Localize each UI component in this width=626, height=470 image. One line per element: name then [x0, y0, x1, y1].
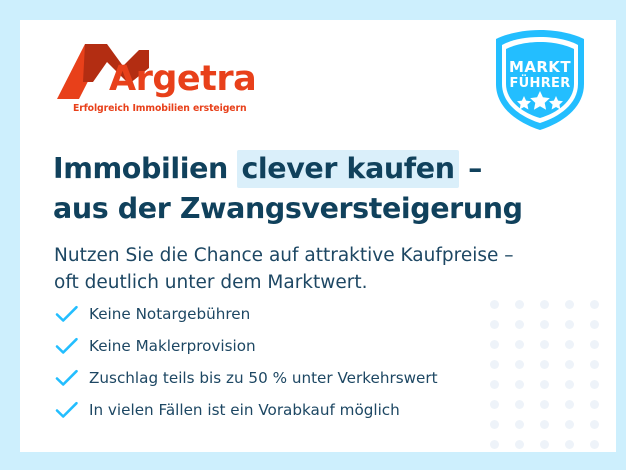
dot	[590, 320, 599, 329]
check-icon	[54, 400, 80, 420]
dot	[590, 300, 599, 309]
benefits-list: Keine NotargebührenKeine Maklerprovision…	[54, 298, 534, 426]
dot	[565, 340, 574, 349]
dot	[515, 440, 524, 449]
dot	[540, 440, 549, 449]
list-item: Keine Maklerprovision	[54, 330, 534, 362]
dot	[590, 420, 599, 429]
dot	[540, 340, 549, 349]
dot	[590, 400, 599, 409]
headline-part-2: –	[459, 152, 482, 185]
dot	[565, 400, 574, 409]
dot	[565, 360, 574, 369]
logo-tagline: Erfolgreich Immobilien ersteigern	[73, 103, 246, 114]
list-item-label: In vielen Fällen ist ein Vorabkauf mögli…	[89, 401, 400, 419]
check-icon	[54, 336, 80, 356]
dot	[565, 380, 574, 389]
subtitle-line-1: Nutzen Sie die Chance auf attraktive Kau…	[54, 245, 514, 266]
dot	[540, 320, 549, 329]
banner-content-area: Argetra Erfolgreich Immobilien ersteiger…	[20, 20, 616, 452]
dot	[540, 400, 549, 409]
list-item: Keine Notargebühren	[54, 298, 534, 330]
dot	[540, 420, 549, 429]
headline-part-1: Immobilien	[53, 152, 237, 185]
logo-wordmark: Argetra	[109, 62, 256, 97]
list-item-label: Keine Maklerprovision	[89, 337, 256, 355]
dot	[540, 300, 549, 309]
list-item-label: Zuschlag teils bis zu 50 % unter Verkehr…	[89, 369, 438, 387]
dot	[490, 440, 499, 449]
dot	[590, 440, 599, 449]
page-title: Immobilien clever kaufen –aus der Zwangs…	[53, 151, 553, 227]
dot	[565, 300, 574, 309]
list-item: In vielen Fällen ist ein Vorabkauf mögli…	[54, 394, 534, 426]
promo-banner: Argetra Erfolgreich Immobilien ersteiger…	[0, 0, 626, 470]
check-icon	[54, 304, 80, 324]
dot	[590, 360, 599, 369]
marktfuehrer-badge: MARKT FÜHRER	[492, 28, 588, 132]
list-item: Zuschlag teils bis zu 50 % unter Verkehr…	[54, 362, 534, 394]
badge-line-2: FÜHRER	[509, 75, 570, 91]
argetra-logo[interactable]: Argetra Erfolgreich Immobilien ersteiger…	[57, 42, 257, 132]
badge-line-1: MARKT	[509, 58, 571, 76]
dot	[590, 380, 599, 389]
dot	[540, 360, 549, 369]
subtitle-line-2: oft deutlich unter dem Marktwert.	[54, 269, 554, 297]
dot	[565, 440, 574, 449]
dot	[565, 420, 574, 429]
list-item-label: Keine Notargebühren	[89, 305, 250, 323]
headline-line-2: aus der Zwangsversteigerung	[53, 191, 553, 227]
headline-highlight: clever kaufen	[237, 150, 458, 188]
dot	[540, 380, 549, 389]
dot	[590, 340, 599, 349]
dot	[565, 320, 574, 329]
subtitle: Nutzen Sie die Chance auf attraktive Kau…	[54, 242, 554, 298]
check-icon	[54, 368, 80, 388]
